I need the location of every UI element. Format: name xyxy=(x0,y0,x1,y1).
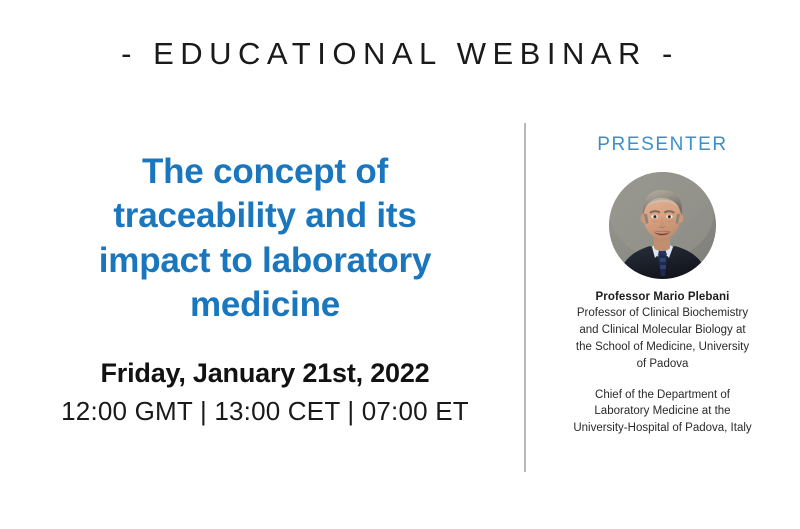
presenter-role-line-4: of Padova xyxy=(637,358,689,370)
presenter-affiliation: Chief of the Department of Laboratory Me… xyxy=(525,387,800,438)
presenter-name: Professor Mario Plebani xyxy=(525,291,800,303)
presenter-column: PRESENTER xyxy=(525,134,800,437)
talk-details-column: The concept of traceability and its impa… xyxy=(20,150,510,427)
presenter-affiliation-line-1: Chief of the Department of xyxy=(595,389,730,401)
presenter-role-line-1: Professor of Clinical Biochemistry xyxy=(577,307,748,319)
webinar-poster: - EDUCATIONAL WEBINAR - The concept of t… xyxy=(0,0,800,529)
talk-title: The concept of traceability and its impa… xyxy=(20,150,510,328)
talk-title-line-2: traceability and its xyxy=(113,196,416,235)
talk-title-line-3: impact to laboratory xyxy=(99,241,431,280)
talk-title-line-4: medicine xyxy=(190,285,340,324)
presenter-avatar xyxy=(609,172,716,279)
presenter-role-line-2: and Clinical Molecular Biology at xyxy=(579,324,745,336)
presenter-portrait-icon xyxy=(609,172,716,279)
talk-title-line-1: The concept of xyxy=(142,152,388,191)
presenter-role: Professor of Clinical Biochemistry and C… xyxy=(525,305,800,373)
presenter-role-line-3: the School of Medicine, University xyxy=(576,341,749,353)
webinar-banner-heading: - EDUCATIONAL WEBINAR - xyxy=(0,36,800,72)
event-date: Friday, January 21st, 2022 xyxy=(20,358,510,389)
presenter-label: PRESENTER xyxy=(525,134,800,156)
event-times: 12:00 GMT | 13:00 CET | 07:00 ET xyxy=(20,396,510,427)
presenter-affiliation-line-2: Laboratory Medicine at the xyxy=(594,405,730,417)
presenter-affiliation-line-3: University-Hospital of Padova, Italy xyxy=(573,422,751,434)
